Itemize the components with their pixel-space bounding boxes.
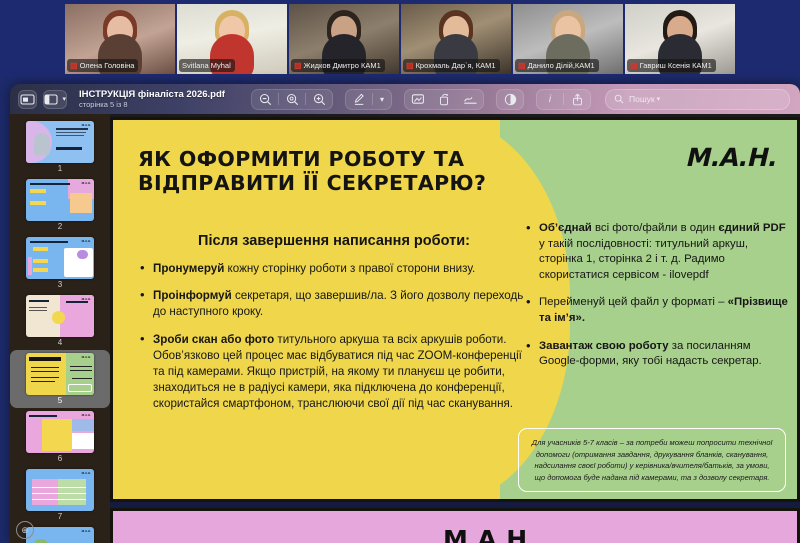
participant-tile-active[interactable]: Svitlana Myhal <box>177 4 287 74</box>
bullet-bold: Зроби скан або фото <box>153 333 274 346</box>
chevron-down-icon: ▾ <box>380 95 384 104</box>
zoom-out-button[interactable] <box>252 89 278 110</box>
pdf-toolbar: ▾ ІНСТРУКЦІЯ фіналіста 2026.pdf сторінка… <box>10 84 800 114</box>
bullet-item: Об’єднай всі фото/файли в один єдиний PD… <box>526 221 788 283</box>
pdf-preview-window: ▾ ІНСТРУКЦІЯ фіналіста 2026.pdf сторінка… <box>10 84 800 543</box>
page-status: сторінка 5 із 8 <box>79 100 239 109</box>
search-icon <box>614 94 624 104</box>
info-icon: i <box>549 94 551 105</box>
thumbnail-page-number: 4 <box>58 337 62 349</box>
document-info: ІНСТРУКЦІЯ фіналіста 2026.pdf сторінка 5… <box>79 89 239 109</box>
participant-tile[interactable]: ▨ Олена Головіна <box>65 4 175 74</box>
bullet-bold: Об’єднай <box>539 222 592 234</box>
participant-tile[interactable]: ▨ Гавриш Ксенія КАМ1 <box>625 4 735 74</box>
mic-muted-icon: ▨ <box>294 60 302 71</box>
bullet-item: Завантаж свою роботу за посиланням Googl… <box>526 339 788 370</box>
page-thumbnail: М.А.Н. <box>26 295 94 337</box>
thumbnails-icon <box>20 94 35 105</box>
mic-muted-icon: ▨ <box>70 60 78 71</box>
search-placeholder: Пошук <box>629 94 655 104</box>
bullet-text: кожну сторінку роботи з правої сторони в… <box>224 262 475 275</box>
page-tools[interactable] <box>404 89 484 110</box>
page-thumbnail: М.А.Н. <box>26 179 94 221</box>
mic-muted-icon: ▨ <box>518 60 526 71</box>
participant-name: ▨ Крохмаль Дар`я, КАМ1 <box>403 59 500 72</box>
thumbnail-page-number: 3 <box>58 279 62 291</box>
rotate-icon <box>438 93 450 106</box>
chevron-down-icon: ▾ <box>657 95 661 103</box>
share-icon <box>572 93 583 106</box>
bullet-bold: Завантаж свою роботу <box>539 340 669 352</box>
thumbnail-page-number: 2 <box>58 221 62 233</box>
page-thumbnail: М.А.Н. <box>26 353 94 395</box>
participant-tile[interactable]: ▨ Крохмаль Дар`я, КАМ1 <box>401 4 511 74</box>
page-thumbnail: М.А.Н. <box>26 411 94 453</box>
markup-controls[interactable]: ▾ <box>345 89 392 110</box>
bullet-item: Проінформуй секретаря, що завершив/ла. З… <box>140 288 530 320</box>
slide-subheading: Після завершення написання роботи: <box>154 233 514 249</box>
sidebar-toggle-button[interactable] <box>18 90 37 109</box>
markup-dropdown-button[interactable]: ▾ <box>373 89 391 110</box>
bullet-item: Пронумеруй кожну сторінку роботи з право… <box>140 261 530 277</box>
mic-muted-icon: ▨ <box>406 60 414 71</box>
zoom-in-icon <box>313 93 326 106</box>
participant-name: ▨ Жидков Дмитро КАМ1 <box>291 59 385 72</box>
appearance-controls[interactable] <box>496 89 524 110</box>
chevron-down-icon: ▾ <box>62 95 66 103</box>
zoom-in-button[interactable] <box>306 89 332 110</box>
pdf-page-5: ЯК ОФОРМИТИ РОБОТУ ТА ВІДПРАВИТИ ЇЇ СЕКР… <box>110 114 800 502</box>
thumbnail-item-6[interactable]: М.А.Н. 6 <box>10 408 110 466</box>
bullet-bold-2: єдиний PDF <box>718 222 785 234</box>
right-bullet-list: Об’єднай всі фото/файли в один єдиний PD… <box>526 221 788 382</box>
document-title: ІНСТРУКЦІЯ фіналіста 2026.pdf <box>79 89 239 100</box>
zoom-out-icon <box>259 93 272 106</box>
rotate-button[interactable] <box>431 89 457 110</box>
share-button[interactable] <box>564 89 590 110</box>
thumbnail-item-4[interactable]: М.А.Н. 4 <box>10 292 110 350</box>
man-logo-text: М.А.Н. <box>684 143 781 172</box>
participant-name: ▨ Олена Головіна <box>67 59 138 72</box>
man-logo: М.А.Н. <box>687 143 778 172</box>
bullet-text: Перейменуй цей файл у форматі – <box>539 296 728 308</box>
info-share-controls[interactable]: i <box>536 89 591 110</box>
page-thumbnail: М.А.Н. <box>26 469 94 511</box>
contrast-icon <box>504 93 517 106</box>
bullet-item: Перейменуй цей файл у форматі – «Прізвищ… <box>526 295 788 326</box>
search-field[interactable]: Пошук ▾ <box>605 89 790 110</box>
left-bullet-list: Пронумеруй кожну сторінку роботи з право… <box>140 261 530 424</box>
page-thumbnail: М.А.Н. <box>26 237 94 279</box>
bullet-bold: Проінформуй <box>153 289 232 302</box>
man-logo-next-page: М.А.Н. <box>443 525 537 543</box>
participant-name: Svitlana Myhal <box>179 59 235 72</box>
crop-button[interactable] <box>405 89 431 110</box>
bullet-bold: Пронумеруй <box>153 262 224 275</box>
signature-icon <box>463 93 478 105</box>
crop-icon <box>411 93 425 105</box>
page-thumbnail: М.А.Н. <box>26 527 94 543</box>
thumbnail-sidebar[interactable]: М.А.Н. 1 М.А.Н. 2 <box>10 114 110 543</box>
zoom-reset-button[interactable] <box>279 89 305 110</box>
appearance-button[interactable] <box>497 89 523 110</box>
zoom-participant-strip: ▨ Олена Головіна Svitlana Myhal ▨ Жидков… <box>0 0 800 78</box>
pdf-page-area[interactable]: ЯК ОФОРМИТИ РОБОТУ ТА ВІДПРАВИТИ ЇЇ СЕКР… <box>110 114 800 543</box>
thumbnail-item-1[interactable]: М.А.Н. 1 <box>10 118 110 176</box>
bullet-text: всі фото/файли в один <box>592 222 719 234</box>
markup-pen-button[interactable] <box>346 89 372 110</box>
pen-icon <box>353 93 365 106</box>
thumbnail-page-number: 5 <box>58 395 62 407</box>
info-button[interactable]: i <box>537 89 563 110</box>
thumbnail-page-number: 1 <box>58 163 62 175</box>
participant-tile[interactable]: ▨ Данило Ділій,КАМ1 <box>513 4 623 74</box>
thumbnail-item-2[interactable]: М.А.Н. 2 <box>10 176 110 234</box>
participant-name: ▨ Данило Ділій,КАМ1 <box>515 59 599 72</box>
zoom-controls[interactable] <box>251 89 333 110</box>
thumbnail-page-number: 6 <box>58 453 62 465</box>
sidebar-layout-icon <box>44 94 58 105</box>
participant-name: ▨ Гавриш Ксенія КАМ1 <box>627 59 716 72</box>
thumbnail-item-7[interactable]: М.А.Н. 7 <box>10 466 110 524</box>
note-box: Для учасників 5-7 класів – за потреби мо… <box>518 428 786 492</box>
view-mode-button[interactable]: ▾ <box>43 90 67 109</box>
thumbnail-page-number: 7 <box>58 511 62 523</box>
thumbnail-item-3[interactable]: М.А.Н. 3 <box>10 234 110 292</box>
pdf-page-6-preview[interactable]: М.А.Н. <box>110 508 800 543</box>
page-thumbnail: М.А.Н. <box>26 121 94 163</box>
bullet-item: Зроби скан або фото титульного аркуша та… <box>140 332 530 413</box>
thumbnail-item-5-selected[interactable]: М.А.Н. 5 <box>10 350 110 408</box>
bullet-text-2: у такій послідовності: титульний аркуш, … <box>539 238 748 281</box>
sidebar-add-button[interactable]: ⊕ <box>16 521 34 539</box>
slide-title: ЯК ОФОРМИТИ РОБОТУ ТА ВІДПРАВИТИ ЇЇ СЕКР… <box>138 147 528 195</box>
zoom-actual-size-icon <box>286 93 299 106</box>
participant-tile[interactable]: ▨ Жидков Дмитро КАМ1 <box>289 4 399 74</box>
mic-muted-icon: ▨ <box>630 60 638 71</box>
highlight-button[interactable] <box>457 89 483 110</box>
